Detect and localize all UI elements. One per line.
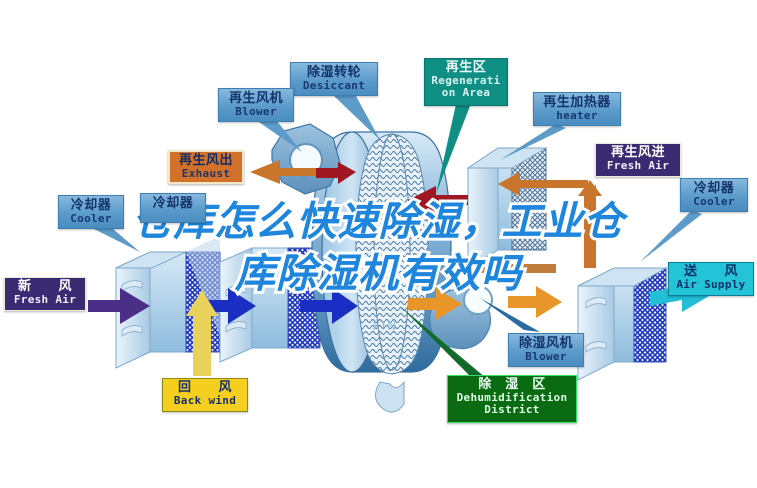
label-dehumidification-district: 除 湿 区 Dehumidification District (447, 375, 577, 423)
diagram-canvas: XIN (0, 0, 757, 488)
label-regeneration-area: 再生区 Regenerati on Area (424, 58, 508, 106)
label-regeneration-blower: 再生风机 Blower (218, 88, 294, 122)
label-exhaust: 再生风出 Exhaust (168, 150, 244, 184)
label-cooler-middle: 冷却器 (140, 193, 206, 223)
label-cooler-left: 冷却器 Cooler (58, 195, 124, 229)
label-fresh-air-left: 新 风 Fresh Air (4, 277, 86, 311)
label-fresh-air-right: 再生风进 Fresh Air (595, 143, 681, 177)
label-desiccant-wheel: 除湿转轮 Desiccant (290, 62, 378, 96)
label-back-wind: 回 风 Back wind (162, 378, 248, 412)
svg-text:XIN: XIN (372, 319, 398, 333)
headline-line-2: 库除湿机有效吗 (0, 248, 757, 300)
label-regeneration-heater: 再生加热器 heater (533, 92, 621, 126)
label-air-supply: 送 风 Air Supply (668, 262, 754, 296)
label-cooler-right: 冷却器 Cooler (680, 178, 748, 212)
label-dehumidification-blower: 除湿风机 Blower (508, 333, 584, 367)
